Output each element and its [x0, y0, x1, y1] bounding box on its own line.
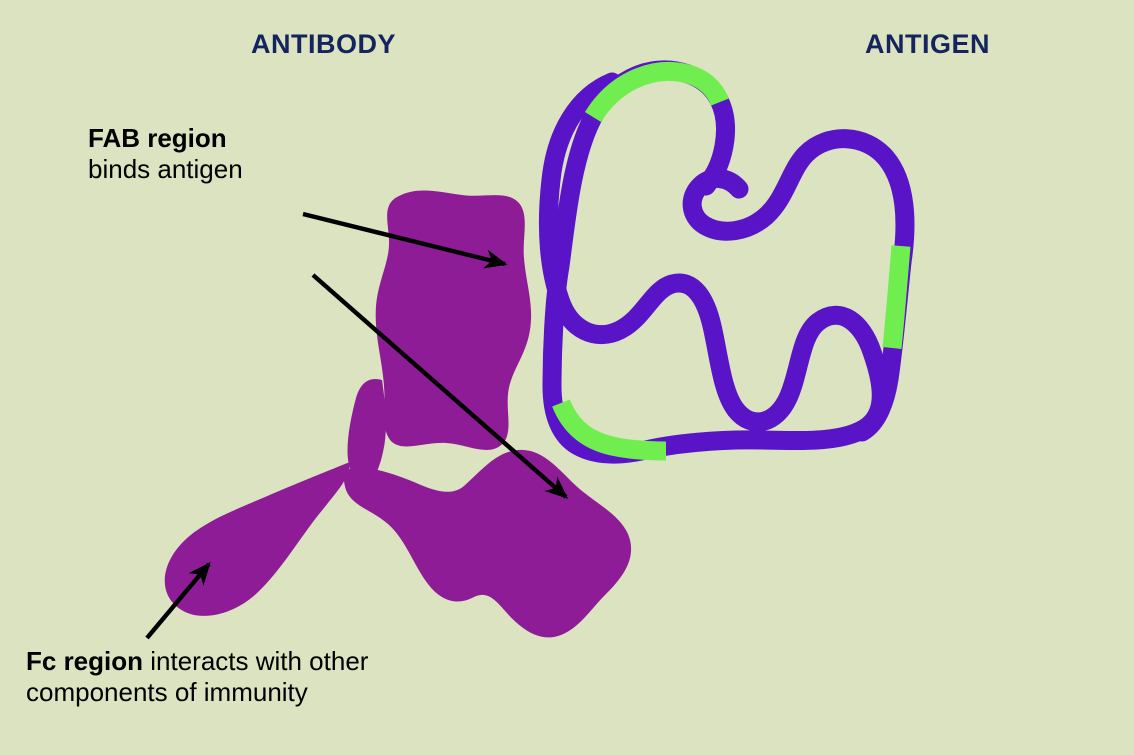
antibody-fab-arm-upper: [376, 190, 531, 449]
antigen-molecule: [548, 70, 905, 454]
antibody-heading: ANTIBODY: [251, 29, 396, 60]
antigen-heading: ANTIGEN: [865, 29, 990, 60]
fc-region-title: Fc region: [26, 646, 143, 676]
fc-region-description-line2: components of immunity: [26, 677, 368, 708]
epitope-right: [892, 246, 901, 348]
antibody-fab-arm-lower-right: [344, 450, 631, 638]
fab-region-title: FAB region: [88, 123, 243, 154]
fc-region-callout: Fc region interacts with other component…: [26, 646, 368, 708]
fc-region-description-inline: interacts with other: [143, 646, 368, 676]
fab-region-callout: FAB region binds antigen: [88, 123, 243, 185]
antibody-antigen-figure: [0, 0, 1134, 755]
fab-region-description: binds antigen: [88, 154, 243, 185]
antibody-fc-arm: [165, 462, 350, 616]
diagram-canvas: ANTIBODY ANTIGEN FAB region binds antige…: [0, 0, 1134, 755]
